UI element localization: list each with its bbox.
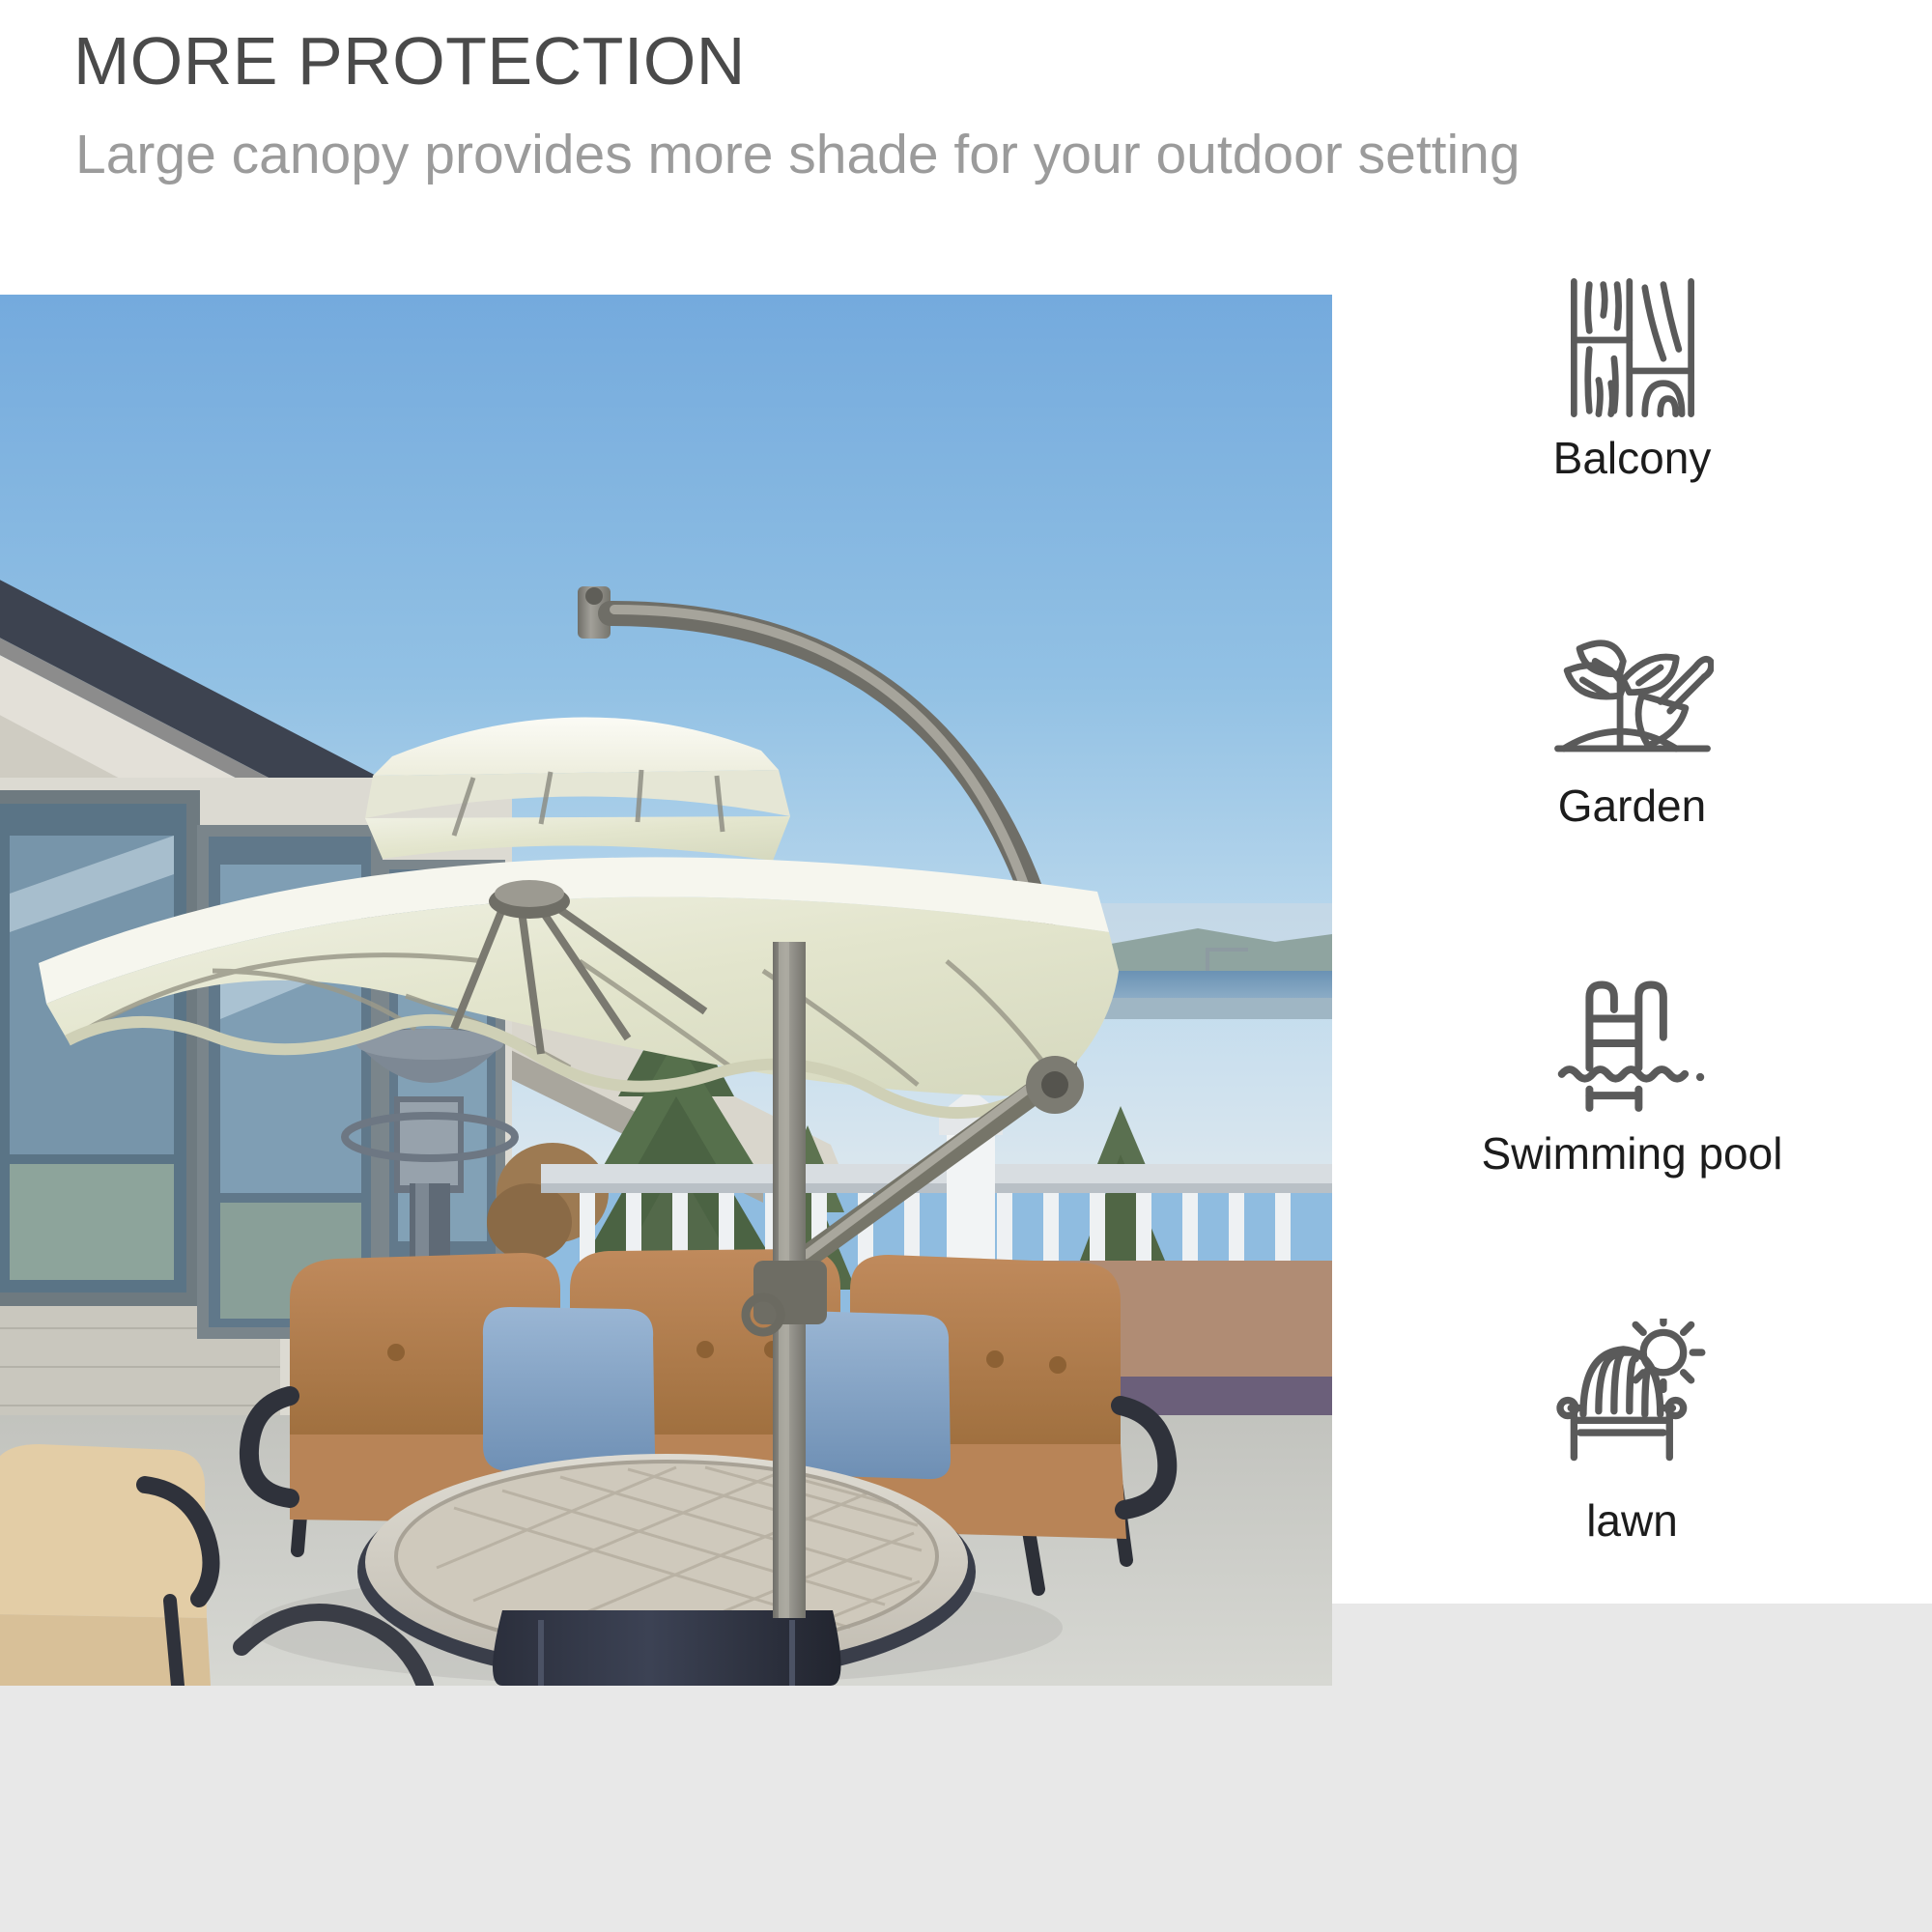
feature-label-balcony: Balcony xyxy=(1332,434,1932,483)
feature-item-lawn[interactable]: lawn xyxy=(1332,1319,1932,1546)
feature-item-balcony[interactable]: Balcony xyxy=(1332,275,1932,483)
feature-item-swimming-pool[interactable]: Swimming pool xyxy=(1332,971,1932,1179)
product-photo xyxy=(0,295,1332,1686)
feature-list: Balcony xyxy=(1332,295,1932,1686)
feature-label-lawn: lawn xyxy=(1332,1496,1932,1546)
page-title: MORE PROTECTION xyxy=(73,27,746,95)
pool-ladder-icon xyxy=(1332,971,1932,1116)
feature-label-swimming-pool: Swimming pool xyxy=(1332,1129,1932,1179)
balcony-deck-icon xyxy=(1332,275,1932,420)
page-subtitle: Large canopy provides more shade for you… xyxy=(75,128,1520,183)
footer-gray-band xyxy=(0,1686,1932,1932)
feature-item-garden[interactable]: Garden xyxy=(1332,623,1932,831)
patio-scene-illustration xyxy=(0,295,1332,1686)
plant-trowel-icon xyxy=(1332,623,1932,768)
feature-label-garden: Garden xyxy=(1332,781,1932,831)
deck-chair-sun-icon xyxy=(1332,1319,1932,1463)
header-banner: MORE PROTECTION Large canopy provides mo… xyxy=(0,0,1932,295)
